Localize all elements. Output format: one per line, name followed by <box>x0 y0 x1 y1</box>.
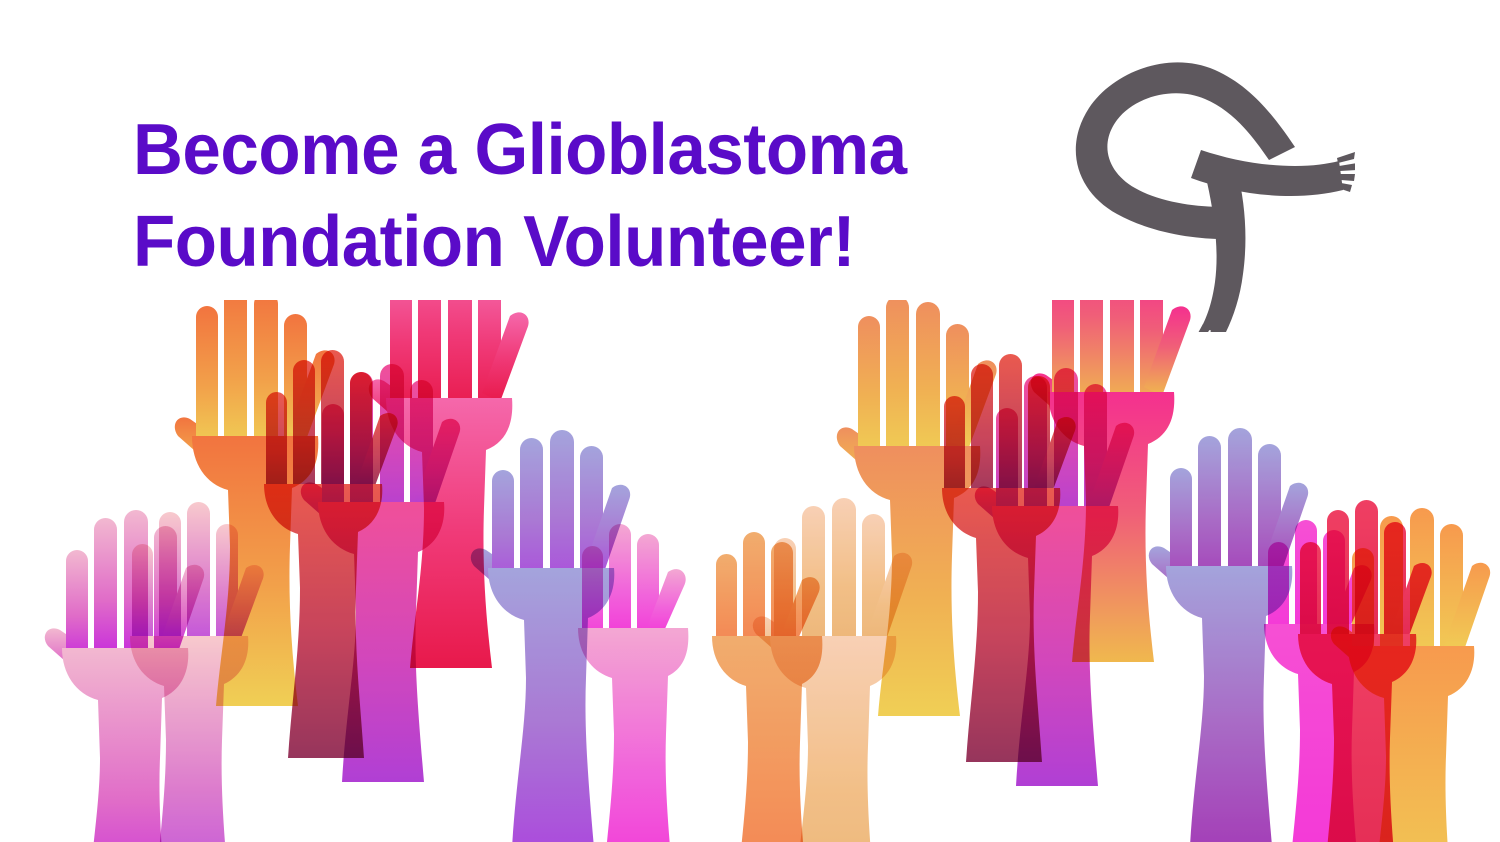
hand-group-right <box>712 300 1490 842</box>
raised-hands-illustration <box>0 300 1500 842</box>
page-title: Become a Glioblastoma Foundation Volunte… <box>133 104 1083 288</box>
hand-group-left <box>45 300 689 842</box>
headline-line-1: Become a Glioblastoma <box>133 104 1045 196</box>
awareness-ribbon-icon <box>1055 42 1355 332</box>
headline-line-2: Foundation Volunteer! <box>133 196 1045 288</box>
promo-banner: Become a Glioblastoma Foundation Volunte… <box>0 0 1500 842</box>
hand-silhouette <box>578 524 688 842</box>
